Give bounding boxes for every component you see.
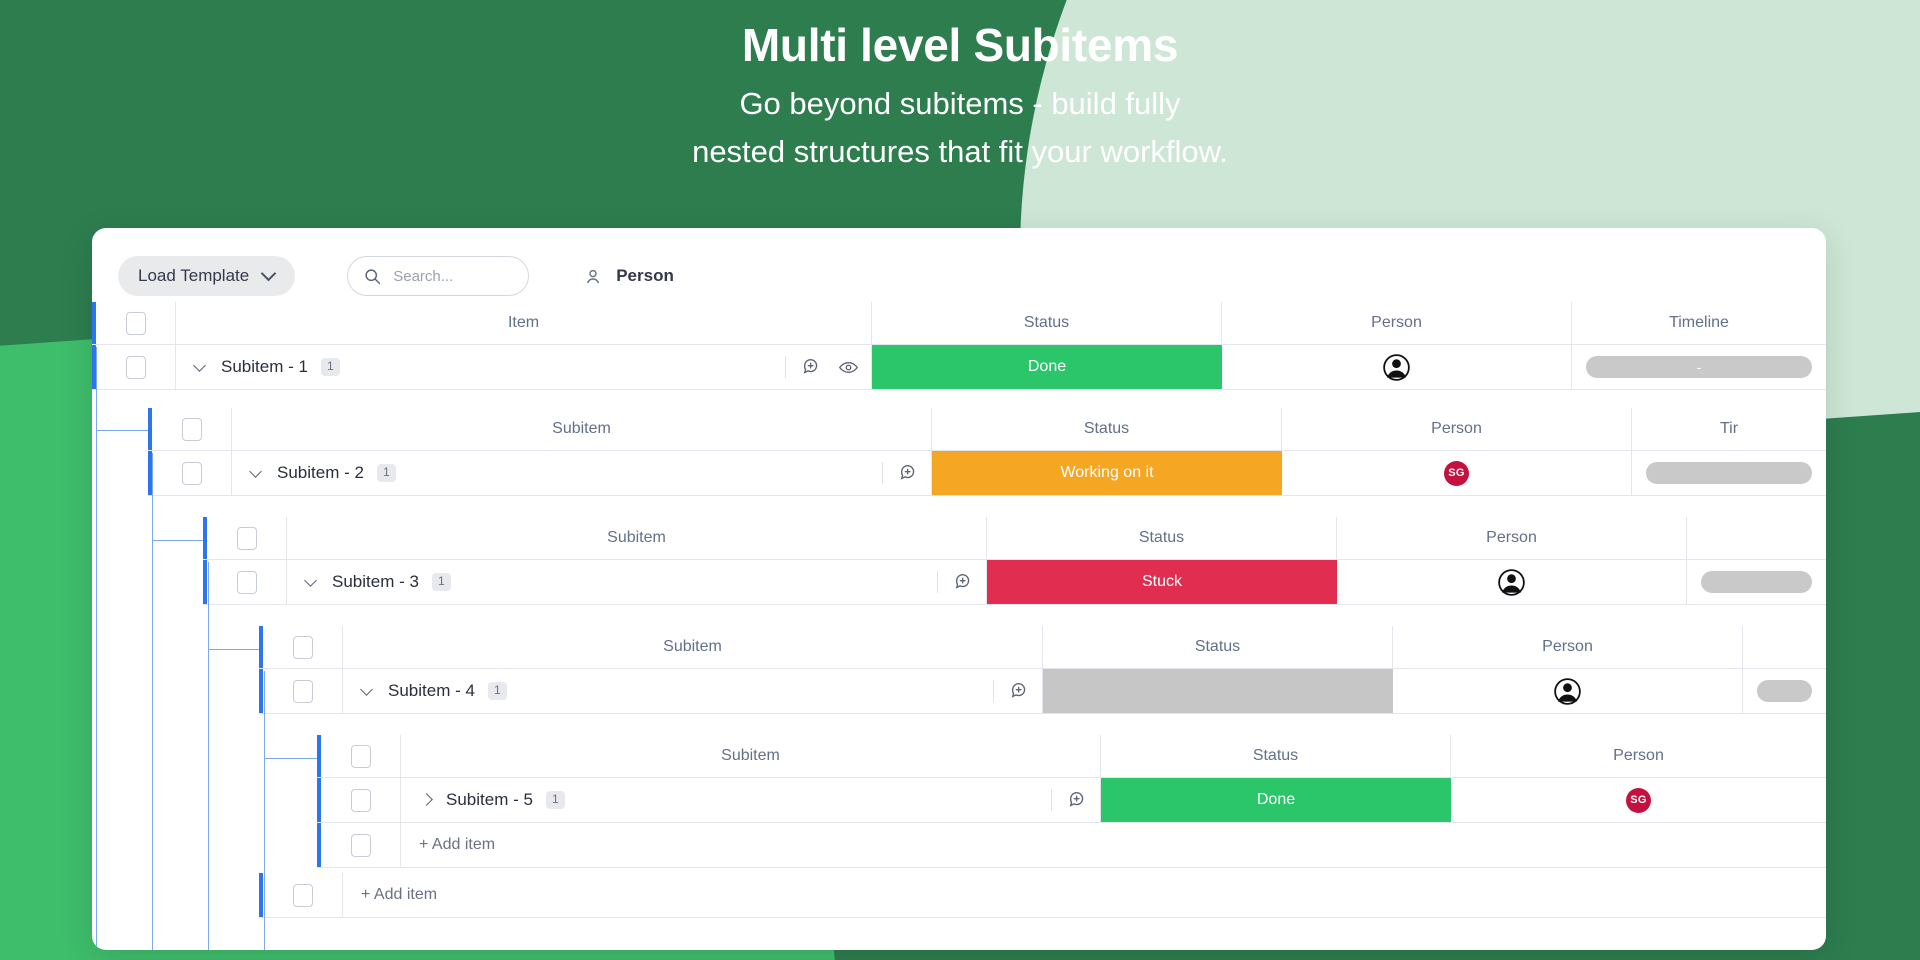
column-header-timeline-clipped[interactable] xyxy=(1687,517,1826,559)
icon-divider xyxy=(1051,789,1052,811)
row-checkbox[interactable] xyxy=(293,680,313,703)
table-level-3: Subitem Status Person Subitem - 3 1 xyxy=(203,517,1826,605)
tree-line-level-4 xyxy=(264,671,265,950)
subitem-count-badge: 1 xyxy=(432,573,451,590)
person-cell[interactable] xyxy=(1337,560,1687,604)
table-level-4: Subitem Status Person Subitem - 4 1 xyxy=(259,626,1826,714)
search-placeholder: Search... xyxy=(393,268,453,285)
item-title: Subitem - 2 xyxy=(277,463,364,483)
table-row[interactable]: Subitem - 4 1 xyxy=(259,669,1826,714)
select-all-checkbox[interactable] xyxy=(126,312,146,335)
table-level-5: Subitem Status Person Subitem - 5 1 xyxy=(317,735,1826,868)
avatar-person-icon xyxy=(1554,678,1581,705)
row-checkbox[interactable] xyxy=(351,834,371,857)
subitem-count-badge: 1 xyxy=(488,682,507,699)
tree-elbow-level-3 xyxy=(152,540,203,541)
search-icon xyxy=(364,268,381,285)
promo-title: Multi level Subitems xyxy=(0,0,1920,72)
chevron-down-icon[interactable] xyxy=(250,466,264,480)
row-action-icons xyxy=(785,356,871,378)
status-cell[interactable] xyxy=(1043,669,1393,713)
subitem-count-badge: 1 xyxy=(377,464,396,481)
select-all-cell[interactable] xyxy=(207,517,287,559)
chevron-right-icon[interactable] xyxy=(419,793,433,807)
select-all-cell[interactable] xyxy=(152,408,232,450)
avatar: SG xyxy=(1444,461,1469,486)
search-input[interactable]: Search... xyxy=(347,256,529,296)
eye-icon[interactable] xyxy=(838,357,859,378)
add-item-row[interactable]: + Add item xyxy=(317,823,1826,868)
avatar-person-icon xyxy=(1383,354,1410,381)
avatar-person-icon xyxy=(1498,569,1525,596)
person-filter-button[interactable]: Person xyxy=(581,264,674,288)
promo-subtitle-line-1: Go beyond subitems - build fully xyxy=(0,80,1920,128)
person-cell[interactable]: SG xyxy=(1282,451,1632,495)
row-checkbox[interactable] xyxy=(237,571,257,594)
add-item-row[interactable]: + Add item xyxy=(259,873,1826,918)
column-header-timeline-clipped[interactable] xyxy=(1743,626,1826,668)
table-header-level-3: Subitem Status Person xyxy=(203,517,1826,560)
item-title: Subitem - 1 xyxy=(221,357,308,377)
column-header-person[interactable]: Person xyxy=(1393,626,1743,668)
toolbar: Load Template Search... Person xyxy=(92,228,1826,302)
timeline-cell[interactable] xyxy=(1743,669,1826,713)
row-action-icons xyxy=(937,571,986,593)
table-row[interactable]: Subitem - 3 1 Stuck xyxy=(203,560,1826,605)
avatar: SG xyxy=(1626,788,1651,813)
timeline-pill xyxy=(1646,462,1812,484)
row-action-icons xyxy=(993,680,1042,702)
person-filter-label: Person xyxy=(616,266,674,286)
select-all-checkbox[interactable] xyxy=(237,527,257,550)
table-row[interactable]: Subitem - 1 1 Done xyxy=(92,345,1826,390)
select-all-cell[interactable] xyxy=(321,735,401,777)
timeline-cell[interactable]: - xyxy=(1572,345,1826,389)
select-all-checkbox[interactable] xyxy=(182,418,202,441)
column-header-status[interactable]: Status xyxy=(932,408,1282,450)
item-name-cell[interactable]: Subitem - 2 1 xyxy=(232,451,932,495)
icon-divider xyxy=(785,356,786,378)
row-action-icons xyxy=(882,462,931,484)
tree-elbow-level-4 xyxy=(208,649,259,650)
table-header-level-4: Subitem Status Person xyxy=(259,626,1826,669)
chevron-down-icon[interactable] xyxy=(194,360,208,374)
column-header-timeline[interactable]: Timeline xyxy=(1572,302,1826,344)
status-cell[interactable]: Stuck xyxy=(987,560,1337,604)
chat-add-icon[interactable] xyxy=(954,572,974,592)
column-header-status[interactable]: Status xyxy=(872,302,1222,344)
item-name-cell[interactable]: Subitem - 5 1 xyxy=(401,778,1101,822)
status-cell[interactable]: Done xyxy=(1101,778,1451,822)
person-circle-icon xyxy=(581,264,605,288)
table-row[interactable]: Subitem - 5 1 Done SG xyxy=(317,778,1826,823)
person-cell[interactable] xyxy=(1222,345,1572,389)
table-level-2: Subitem Status Person Tir Subitem - 2 1 xyxy=(148,408,1826,496)
item-name-cell[interactable]: Subitem - 4 1 xyxy=(343,669,1043,713)
table-header-level-1: Item Status Person Timeline xyxy=(92,302,1826,345)
subitem-count-badge: 1 xyxy=(546,791,565,808)
row-select-cell[interactable] xyxy=(96,345,176,389)
chat-add-icon[interactable] xyxy=(899,463,919,483)
status-cell[interactable]: Working on it xyxy=(932,451,1282,495)
load-template-button[interactable]: Load Template xyxy=(118,256,295,296)
column-header-person[interactable]: Person xyxy=(1282,408,1632,450)
person-cell[interactable]: SG xyxy=(1451,778,1826,822)
item-title: Subitem - 5 xyxy=(446,790,533,810)
table-level-4-footer: + Add item xyxy=(259,873,1826,918)
column-header-subitem[interactable]: Subitem xyxy=(401,735,1101,777)
column-header-item[interactable]: Item xyxy=(176,302,872,344)
table-header-level-5: Subitem Status Person xyxy=(317,735,1826,778)
icon-divider xyxy=(937,571,938,593)
person-cell[interactable] xyxy=(1393,669,1743,713)
row-checkbox[interactable] xyxy=(182,462,202,485)
row-select-cell[interactable] xyxy=(321,778,401,822)
add-item-button[interactable]: + Add item xyxy=(343,873,1826,917)
column-header-subitem[interactable]: Subitem xyxy=(287,517,987,559)
item-name-cell[interactable]: Subitem - 1 1 xyxy=(176,345,872,389)
column-header-subitem[interactable]: Subitem xyxy=(343,626,1043,668)
row-action-icons xyxy=(1051,789,1100,811)
chevron-down-icon[interactable] xyxy=(361,684,375,698)
status-cell[interactable]: Done xyxy=(872,345,1222,389)
icon-divider xyxy=(882,462,883,484)
tree-line-level-2 xyxy=(152,453,153,950)
timeline-pill xyxy=(1757,680,1812,702)
timeline-pill xyxy=(1701,571,1812,593)
timeline-pill: - xyxy=(1586,356,1812,378)
select-all-checkbox[interactable] xyxy=(293,636,313,659)
column-header-timeline[interactable]: Tir xyxy=(1632,408,1826,450)
column-header-status[interactable]: Status xyxy=(1101,735,1451,777)
chat-add-icon[interactable] xyxy=(802,357,822,377)
add-item-button[interactable]: + Add item xyxy=(401,823,1826,867)
column-header-person[interactable]: Person xyxy=(1222,302,1572,344)
column-header-person[interactable]: Person xyxy=(1451,735,1826,777)
tree-line-level-3 xyxy=(208,562,209,950)
row-select-cell[interactable] xyxy=(263,669,343,713)
timeline-cell[interactable] xyxy=(1632,451,1826,495)
row-select-cell[interactable] xyxy=(207,560,287,604)
app-card: Load Template Search... Person xyxy=(92,228,1826,950)
column-header-status[interactable]: Status xyxy=(987,517,1337,559)
tree-line-level-1 xyxy=(96,347,97,950)
subitem-count-badge: 1 xyxy=(321,358,340,375)
select-all-cell[interactable] xyxy=(96,302,176,344)
chat-add-icon[interactable] xyxy=(1010,681,1030,701)
chat-add-icon[interactable] xyxy=(1068,790,1088,810)
timeline-cell[interactable] xyxy=(1687,560,1826,604)
item-name-cell[interactable]: Subitem - 3 1 xyxy=(287,560,987,604)
tree-elbow-level-5 xyxy=(264,758,317,759)
load-template-label: Load Template xyxy=(138,266,249,286)
chevron-down-icon xyxy=(263,268,275,280)
table-row[interactable]: Subitem - 2 1 Working on it SG xyxy=(148,451,1826,496)
chevron-down-icon[interactable] xyxy=(305,575,319,589)
item-title: Subitem - 4 xyxy=(388,681,475,701)
table-level-1: Item Status Person Timeline Subitem - 1 … xyxy=(92,302,1826,390)
select-all-checkbox[interactable] xyxy=(351,745,371,768)
row-checkbox[interactable] xyxy=(126,356,146,379)
row-select-cell[interactable] xyxy=(263,873,343,917)
column-header-person[interactable]: Person xyxy=(1337,517,1687,559)
promo-header: Multi level Subitems Go beyond subitems … xyxy=(0,0,1920,176)
tree-elbow-level-2 xyxy=(96,430,148,431)
icon-divider xyxy=(993,680,994,702)
row-select-cell[interactable] xyxy=(152,451,232,495)
row-select-cell[interactable] xyxy=(321,823,401,867)
column-header-status[interactable]: Status xyxy=(1043,626,1393,668)
item-title: Subitem - 3 xyxy=(332,572,419,592)
row-checkbox[interactable] xyxy=(351,789,371,812)
table-header-level-2: Subitem Status Person Tir xyxy=(148,408,1826,451)
row-checkbox[interactable] xyxy=(293,884,313,907)
promo-subtitle-line-2: nested structures that fit your workflow… xyxy=(0,128,1920,176)
select-all-cell[interactable] xyxy=(263,626,343,668)
column-header-subitem[interactable]: Subitem xyxy=(232,408,932,450)
